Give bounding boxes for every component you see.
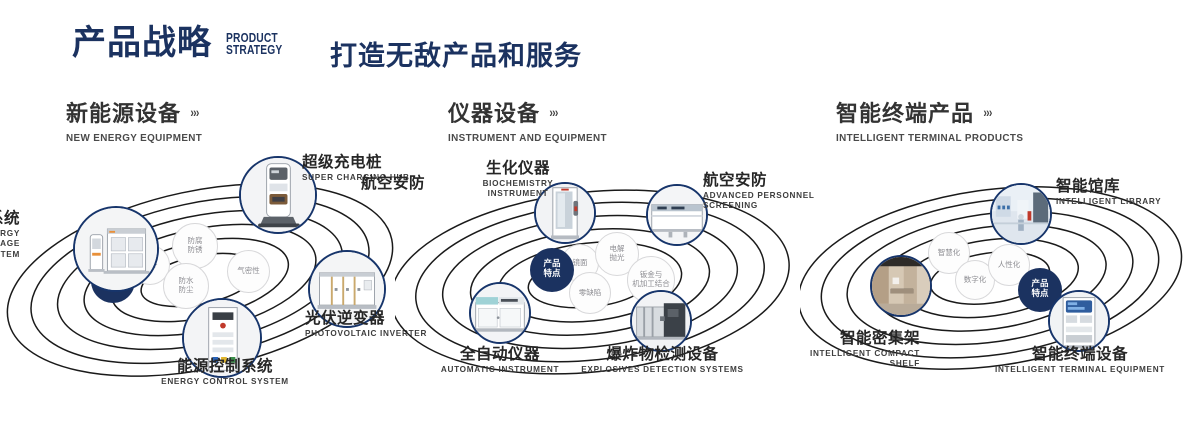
- cluster-instrument: 镜面 电解抛光 钣金与机加工结合 零缺陷 产品特点 生化仪器 BIOCHEMIS…: [395, 150, 795, 412]
- feature-bubble-label: 镜面: [573, 259, 588, 268]
- automatic-instrument-photo: [471, 284, 529, 342]
- section-title-cn: 仪器设备: [448, 96, 540, 128]
- section-header-intelligent-terminal: 智能终端产品››› INTELLIGENT TERMINAL PRODUCTS: [836, 96, 1035, 144]
- node-intelligent-library[interactable]: [990, 183, 1052, 245]
- intelligent-library-photo: [992, 185, 1050, 243]
- core-badge-label: 产品特点: [543, 260, 560, 280]
- explosives-detection-photo: [632, 292, 690, 350]
- label-automatic-instrument: 全自动仪器 AUTOMATIC INSTRUMENT: [415, 346, 585, 375]
- label-en: INTELLIGENT TERMINAL EQUIPMENT: [990, 365, 1170, 375]
- section-title-en: NEW ENERGY EQUIPMENT: [66, 132, 202, 144]
- label-energy-storage-system: 储能系统 ENERGY STORAGE SYSTEM: [0, 210, 20, 260]
- core-badge-product-features: 产品特点: [530, 248, 574, 292]
- terminal-equipment-photo: [1050, 292, 1108, 350]
- page-title: 产品战略 PRODUCT STRATEGY: [72, 26, 295, 60]
- node-intelligent-terminal-equipment[interactable]: [1048, 290, 1110, 352]
- section-title-cn: 新能源设备: [66, 96, 181, 128]
- label-en: EXPLOSIVES DETECTION SYSTEMS: [580, 365, 745, 375]
- feature-bubble: 零缺陷: [569, 272, 611, 314]
- section-header-new-energy: 新能源设备››› NEW ENERGY EQUIPMENT: [66, 96, 211, 144]
- label-en: ENERGY STORAGE SYSTEM: [0, 229, 20, 260]
- feature-bubble-label: 数字化: [964, 276, 987, 285]
- label-cn: 能源控制系统: [85, 358, 365, 375]
- feature-bubble-label: 钣金与机加工结合: [632, 271, 670, 288]
- label-en: INTELLIGENT LIBRARY: [1056, 197, 1200, 207]
- title-en-line1: PRODUCT: [226, 32, 282, 45]
- title-en-line2: STRATEGY: [226, 44, 282, 57]
- feature-bubble-label: 人性化: [998, 261, 1021, 270]
- section-header-instrument: 仪器设备››› INSTRUMENT AND EQUIPMENT: [448, 96, 617, 144]
- compact-shelf-photo: [872, 257, 930, 315]
- node-automatic-instrument[interactable]: [469, 282, 531, 344]
- label-biochemistry-instrument: 生化仪器 BIOCHEMISTRY INSTRUMENT: [438, 160, 598, 200]
- label-aviation-security-left: 航空安防: [305, 175, 425, 192]
- energy-storage-photo: [75, 208, 157, 290]
- label-cn: 智能密集架: [730, 330, 920, 347]
- label-cn: 全自动仪器: [415, 346, 585, 363]
- label-en: AUTOMATIC INSTRUMENT: [415, 365, 585, 375]
- title-en: PRODUCT STRATEGY: [226, 32, 282, 61]
- feature-bubble-label: 防水防尘: [179, 277, 194, 294]
- chevron-right-icon: ›››: [983, 104, 991, 120]
- label-en: BIOCHEMISTRY INSTRUMENT: [438, 179, 598, 200]
- feature-bubble-label: 电解抛光: [610, 245, 625, 262]
- label-intelligent-terminal-equipment: 智能终端设备 INTELLIGENT TERMINAL EQUIPMENT: [990, 346, 1170, 375]
- node-energy-storage-system[interactable]: [73, 206, 159, 292]
- cluster-intelligent-terminal: 智慧化 数字化 人性化 产品特点: [800, 150, 1200, 412]
- screening-photo: [648, 186, 706, 244]
- section-title-cn: 智能终端产品: [836, 96, 974, 128]
- label-cn: 储能系统: [0, 210, 20, 227]
- label-cn: 航空安防: [305, 175, 425, 192]
- feature-bubble-label: 气密性: [237, 267, 260, 276]
- label-cn: 智能馆库: [1056, 178, 1200, 195]
- node-advanced-personnel-screening[interactable]: [646, 184, 708, 246]
- chevron-right-icon: ›››: [549, 104, 557, 120]
- label-cn: 生化仪器: [438, 160, 598, 177]
- core-badge-label: 产品特点: [1031, 280, 1048, 300]
- label-cn: 爆炸物检测设备: [580, 346, 745, 363]
- chevron-right-icon: ›››: [190, 104, 198, 120]
- feature-bubble: 防腐防锈: [172, 223, 218, 269]
- label-cn: 智能终端设备: [990, 346, 1170, 363]
- title-cn: 产品战略: [72, 26, 212, 60]
- feature-bubble: 气密性: [227, 250, 270, 293]
- label-en: INTELLIGENT COMPACT SHELF: [730, 349, 920, 370]
- label-intelligent-compact-shelf: 智能密集架 INTELLIGENT COMPACT SHELF: [730, 330, 920, 370]
- slogan: 打造无敌产品和服务: [330, 34, 582, 73]
- feature-bubble-label: 防腐防锈: [188, 237, 203, 254]
- product-strategy-infographic: 产品战略 PRODUCT STRATEGY 打造无敌产品和服务 新能源设备›››…: [0, 0, 1200, 422]
- label-intelligent-library: 智能馆库 INTELLIGENT LIBRARY: [1056, 178, 1200, 207]
- label-explosives-detection-systems: 爆炸物检测设备 EXPLOSIVES DETECTION SYSTEMS: [580, 346, 745, 375]
- feature-bubble-label: 智慧化: [938, 249, 961, 258]
- section-title-en: INTELLIGENT TERMINAL PRODUCTS: [836, 132, 1023, 144]
- label-en: ENERGY CONTROL SYSTEM: [85, 377, 365, 387]
- section-title-en: INSTRUMENT AND EQUIPMENT: [448, 132, 607, 144]
- node-explosives-detection-systems[interactable]: [630, 290, 692, 352]
- label-energy-control-system: 能源控制系统 ENERGY CONTROL SYSTEM: [85, 358, 365, 387]
- node-intelligent-compact-shelf[interactable]: [870, 255, 932, 317]
- feature-bubble-label: 零缺陷: [579, 289, 602, 298]
